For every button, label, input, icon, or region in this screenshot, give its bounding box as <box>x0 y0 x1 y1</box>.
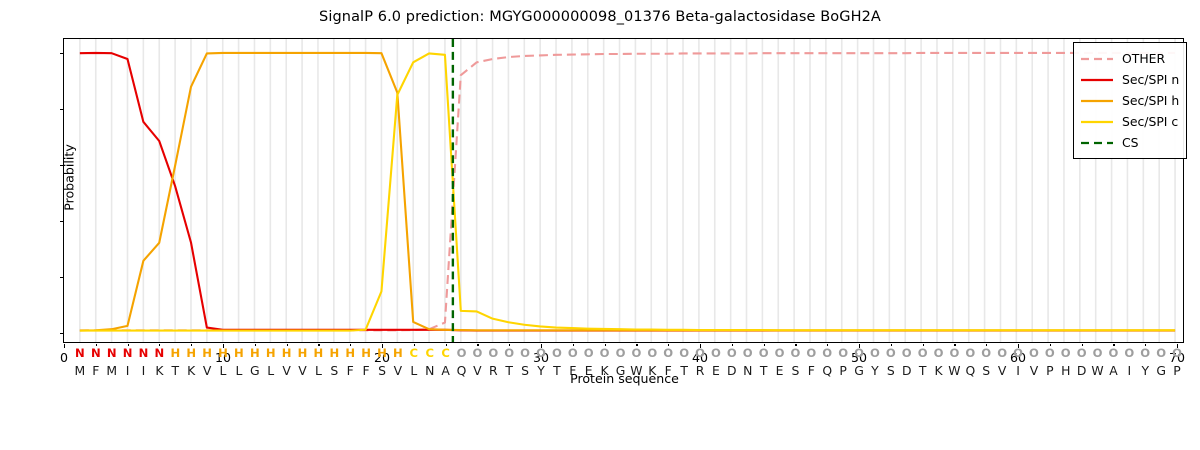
plot-area: Probability Protein sequence 0.00.20.40.… <box>63 38 1184 343</box>
series-lines <box>80 53 1175 331</box>
y-tick-mark <box>60 277 64 278</box>
legend-label: Sec/SPI c <box>1122 114 1178 129</box>
legend-label: CS <box>1122 135 1139 150</box>
chart-title: SignalP 6.0 prediction: MGYG000000098_01… <box>0 9 1200 25</box>
plot-svg <box>64 39 1183 342</box>
series-line-sec-spi-h <box>80 53 1175 331</box>
y-tick-mark <box>60 109 64 110</box>
legend-swatch-icon <box>1080 74 1114 86</box>
legend-item-other[interactable]: OTHER <box>1080 48 1179 69</box>
legend-item-sec-spi-h[interactable]: Sec/SPI h <box>1080 90 1179 111</box>
legend-swatch-icon <box>1080 53 1114 65</box>
legend-swatch-icon <box>1080 137 1114 149</box>
x-tick-mark <box>64 344 65 348</box>
series-line-sec-spi-n <box>80 53 1175 331</box>
series-line-sec-spi-c <box>80 53 1175 330</box>
residue-region-label: O <box>1165 348 1189 360</box>
legend-label: OTHER <box>1122 51 1165 66</box>
y-tick-mark <box>60 333 64 334</box>
grid-lines <box>80 39 1175 342</box>
y-tick-mark <box>60 165 64 166</box>
legend-swatch-icon <box>1080 95 1114 107</box>
legend-label: Sec/SPI h <box>1122 93 1179 108</box>
legend: OTHERSec/SPI nSec/SPI hSec/SPI cCS <box>1073 42 1187 159</box>
legend-swatch-icon <box>1080 116 1114 128</box>
y-tick-mark <box>60 221 64 222</box>
series-line-other <box>80 53 1175 330</box>
signalp-prediction-figure: SignalP 6.0 prediction: MGYG000000098_01… <box>0 0 1200 450</box>
legend-item-sec-spi-n[interactable]: Sec/SPI n <box>1080 69 1179 90</box>
legend-item-cs[interactable]: CS <box>1080 132 1179 153</box>
residue-letter: P <box>1165 365 1189 377</box>
legend-item-sec-spi-c[interactable]: Sec/SPI c <box>1080 111 1179 132</box>
y-tick-mark <box>60 53 64 54</box>
legend-label: Sec/SPI n <box>1122 72 1179 87</box>
